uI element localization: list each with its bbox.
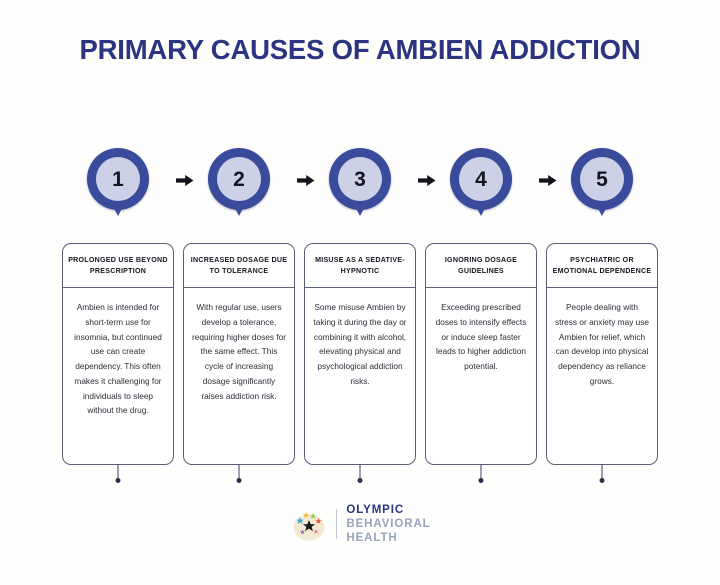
pin-circle-3: 3 <box>329 148 391 210</box>
step-card-description-3: Some misuse Ambien by taking it during t… <box>312 300 408 389</box>
step-card-header-1: PROLONGED USE BEYOND PRESCRIPTION <box>63 244 173 288</box>
pin-tail-icon-2 <box>232 203 246 216</box>
pin-tail-icon-4 <box>474 203 488 216</box>
card-stem-4 <box>425 465 537 487</box>
step-card-4: IGNORING DOSAGE GUIDELINES Exceeding pre… <box>425 243 537 465</box>
step-card-heading-1: PROLONGED USE BEYOND PRESCRIPTION <box>68 255 168 276</box>
pin-inner-1: 1 <box>96 157 140 201</box>
pin-tail-icon-1 <box>111 203 125 216</box>
step-card-body-5: People dealing with stress or anxiety ma… <box>547 288 657 397</box>
pin-number-label-2: 2 <box>233 169 245 190</box>
logo-line-olympic: OLYMPIC <box>346 503 430 517</box>
step-number-row: 1 2 3 <box>62 148 658 230</box>
pin-inner-4: 4 <box>459 157 503 201</box>
stem-line-icon-2 <box>239 465 240 479</box>
step-card-body-2: With regular use, users develop a tolera… <box>184 288 294 411</box>
pin-number-label-1: 1 <box>112 169 124 190</box>
step-card-body-1: Ambien is intended for short-term use fo… <box>63 288 173 426</box>
step-pin-2: 2 <box>183 148 295 230</box>
stem-line-icon-1 <box>118 465 119 479</box>
step-card-3: MISUSE AS A SEDATIVE-HYPNOTIC Some misus… <box>304 243 416 465</box>
pin-tail-icon-3 <box>353 203 367 216</box>
pin-circle-5: 5 <box>571 148 633 210</box>
step-card-header-4: IGNORING DOSAGE GUIDELINES <box>426 244 536 288</box>
card-stem-1 <box>62 465 174 487</box>
stem-line-icon-4 <box>481 465 482 479</box>
stem-dot-icon-5 <box>600 478 605 483</box>
step-card-description-2: With regular use, users develop a tolera… <box>191 300 287 403</box>
step-card-5: PSYCHIATRIC OR EMOTIONAL DEPENDENCE Peop… <box>546 243 658 465</box>
logo-line-health: HEALTH <box>346 531 430 545</box>
step-card-header-2: INCREASED DOSAGE DUE TO TOLERANCE <box>184 244 294 288</box>
step-pin-5: 5 <box>546 148 658 230</box>
stem-dot-icon-3 <box>358 478 363 483</box>
stem-dot-icon-1 <box>116 478 121 483</box>
stem-line-icon-5 <box>602 465 603 479</box>
step-card-1: PROLONGED USE BEYOND PRESCRIPTION Ambien… <box>62 243 174 465</box>
pin-tail-icon-5 <box>595 203 609 216</box>
card-stem-2 <box>183 465 295 487</box>
step-card-heading-2: INCREASED DOSAGE DUE TO TOLERANCE <box>189 255 289 276</box>
step-card-2: INCREASED DOSAGE DUE TO TOLERANCE With r… <box>183 243 295 465</box>
card-stem-5 <box>546 465 658 487</box>
step-card-header-5: PSYCHIATRIC OR EMOTIONAL DEPENDENCE <box>547 244 657 288</box>
step-card-description-5: People dealing with stress or anxiety ma… <box>554 300 650 389</box>
logo-wordmark: OLYMPIC BEHAVIORAL HEALTH <box>346 503 430 545</box>
pin-circle-4: 4 <box>450 148 512 210</box>
card-stem-row <box>62 465 658 487</box>
stem-dot-icon-2 <box>237 478 242 483</box>
pin-inner-5: 5 <box>580 157 624 201</box>
stem-dot-icon-4 <box>479 478 484 483</box>
pin-inner-2: 2 <box>217 157 261 201</box>
stem-line-icon-3 <box>360 465 361 479</box>
brand-logo: OLYMPIC BEHAVIORAL HEALTH <box>0 503 720 545</box>
step-card-description-1: Ambien is intended for short-term use fo… <box>70 300 166 418</box>
logo-divider <box>336 509 337 539</box>
step-card-heading-5: PSYCHIATRIC OR EMOTIONAL DEPENDENCE <box>552 255 652 276</box>
pin-inner-3: 3 <box>338 157 382 201</box>
step-card-heading-4: IGNORING DOSAGE GUIDELINES <box>431 255 531 276</box>
card-stem-3 <box>304 465 416 487</box>
logo-line-behavioral: BEHAVIORAL <box>346 517 430 531</box>
step-card-header-3: MISUSE AS A SEDATIVE-HYPNOTIC <box>305 244 415 288</box>
pin-circle-2: 2 <box>208 148 270 210</box>
pin-number-label-4: 4 <box>475 169 487 190</box>
infographic-canvas: PRIMARY CAUSES OF AMBIEN ADDICTION 1 2 <box>0 0 720 585</box>
step-pin-3: 3 <box>304 148 416 230</box>
page-title: PRIMARY CAUSES OF AMBIEN ADDICTION <box>0 34 720 66</box>
step-card-body-3: Some misuse Ambien by taking it during t… <box>305 288 415 397</box>
pin-circle-1: 1 <box>87 148 149 210</box>
step-card-description-4: Exceeding prescribed doses to intensify … <box>433 300 529 374</box>
step-card-body-4: Exceeding prescribed doses to intensify … <box>426 288 536 382</box>
step-card-heading-3: MISUSE AS A SEDATIVE-HYPNOTIC <box>310 255 410 276</box>
step-pin-4: 4 <box>425 148 537 230</box>
pin-number-label-3: 3 <box>354 169 366 190</box>
olympic-stars-icon <box>289 505 329 543</box>
pin-number-label-5: 5 <box>596 169 608 190</box>
step-card-row: PROLONGED USE BEYOND PRESCRIPTION Ambien… <box>62 243 658 465</box>
step-pin-1: 1 <box>62 148 174 230</box>
